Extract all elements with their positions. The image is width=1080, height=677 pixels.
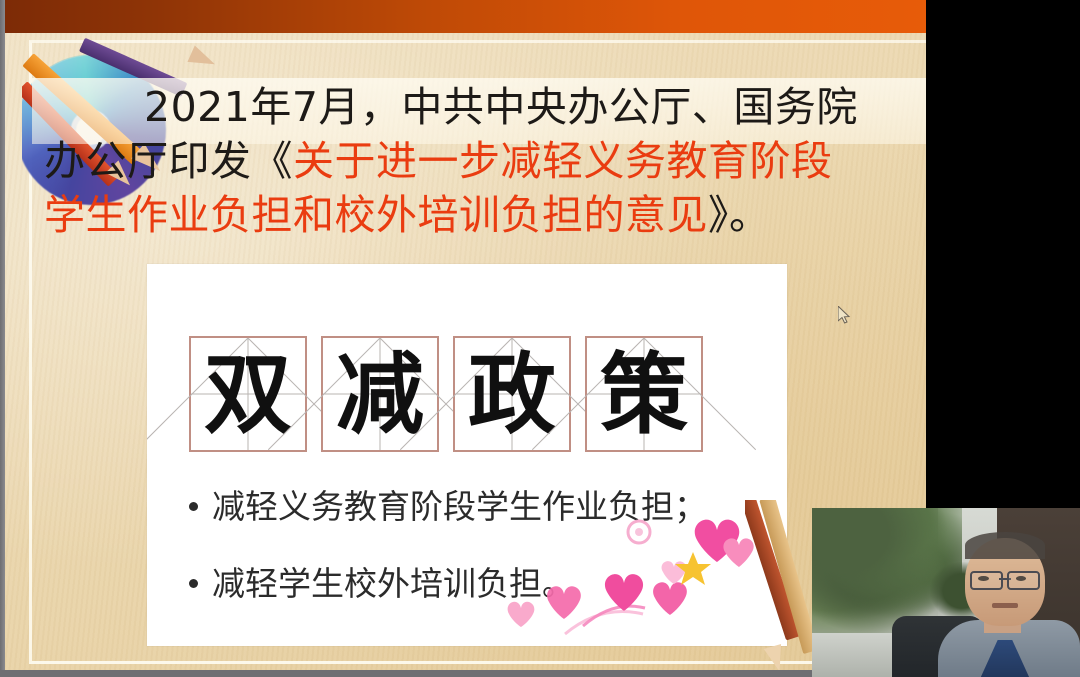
character-cell: 政 — [453, 336, 571, 452]
screen-share-viewport: 2021年7月，中共中央办公厅、国务院 办公厅印发《关于进一步减轻义务教育阶段 … — [0, 0, 1080, 677]
video-person-mouth — [992, 603, 1019, 608]
pencil-purple-tip — [187, 45, 218, 72]
hearts-svg — [487, 496, 787, 646]
character-glyph: 减 — [323, 338, 437, 450]
character-glyph: 双 — [191, 338, 305, 450]
video-desk — [812, 633, 903, 677]
title-line-3-highlight: 学生作业负担和校外培训负担的意见 — [44, 191, 708, 239]
bullet-dot-icon — [189, 579, 198, 588]
pencil-right-tip — [764, 644, 788, 670]
presentation-slide[interactable]: 2021年7月，中共中央办公厅、国务院 办公厅印发《关于进一步减轻义务教育阶段 … — [5, 0, 926, 670]
title-line-3: 学生作业负担和校外培训负担的意见》。 — [32, 188, 926, 242]
character-glyph: 策 — [587, 338, 701, 450]
video-person-hair — [965, 532, 1045, 559]
bullet-dot-icon — [189, 502, 198, 511]
slide-top-ribbon — [5, 0, 926, 33]
character-cell: 双 — [189, 336, 307, 452]
character-cell: 减 — [321, 336, 439, 452]
title-line-2-highlight: 关于进一步减轻义务教育阶段 — [293, 137, 833, 185]
title-line-2: 办公厅印发《关于进一步减轻义务教育阶段 — [32, 134, 926, 188]
presenter-video-thumbnail[interactable] — [812, 508, 1080, 677]
headline-character-grid: 双 减 政 策 — [189, 336, 703, 452]
character-cell: 策 — [585, 336, 703, 452]
window-bottom-border — [0, 670, 926, 677]
slide-content-card: 双 减 政 策 减轻义务教育阶段学生作业负担； — [147, 264, 787, 646]
slide-title: 2021年7月，中共中央办公厅、国务院 办公厅印发《关于进一步减轻义务教育阶段 … — [32, 80, 926, 242]
pink-hearts-flowers-icon — [487, 496, 787, 646]
title-line-1-text: 2021年7月，中共中央办公厅、国务院 — [144, 83, 858, 131]
character-glyph: 政 — [455, 338, 569, 450]
glasses-icon — [970, 571, 1040, 586]
title-line-3-suffix: 》。 — [708, 191, 771, 239]
mouse-pointer-icon — [838, 306, 851, 324]
title-line-2-prefix: 办公厅印发《 — [44, 137, 293, 185]
title-line-1: 2021年7月，中共中央办公厅、国务院 — [32, 80, 926, 134]
